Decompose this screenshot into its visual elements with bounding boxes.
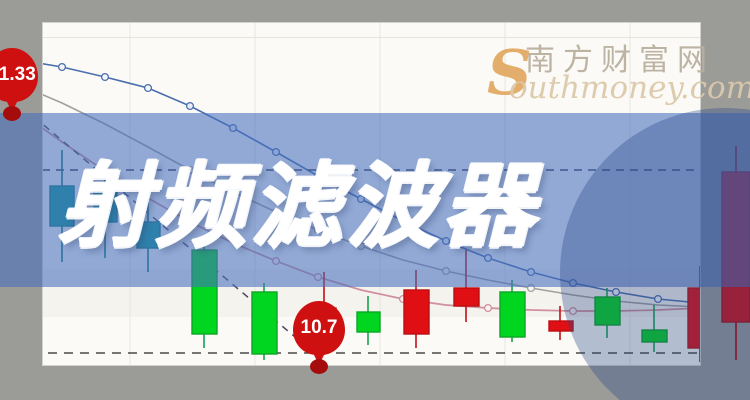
candle-13	[642, 305, 667, 352]
candle-6	[313, 272, 336, 355]
candle-14	[688, 266, 713, 362]
candle-8	[404, 270, 429, 348]
candle-0	[8, 96, 32, 250]
page-title: 射频滤波器	[58, 152, 698, 262]
candle-7	[357, 296, 380, 345]
candle-10	[500, 280, 525, 342]
candle-5	[252, 283, 277, 360]
candle-15	[722, 146, 750, 360]
thumbnail-canvas: S 南方财富网 outhmoney.com 射频滤波器 21.33 10.7	[0, 0, 750, 400]
